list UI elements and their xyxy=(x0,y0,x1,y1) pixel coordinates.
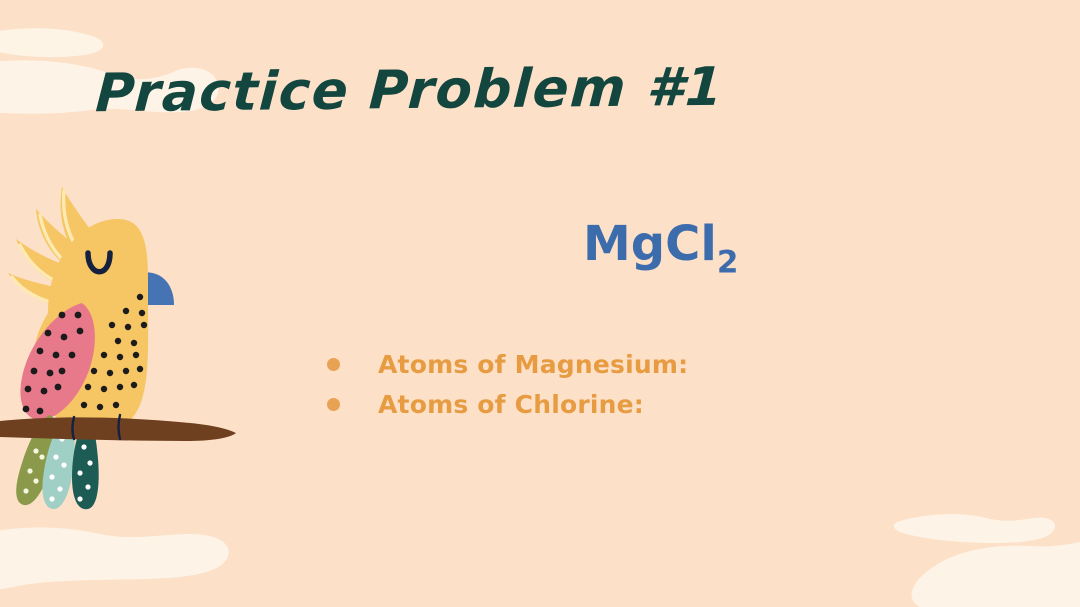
answer-list: Atoms of Magnesium: Atoms of Chlorine: xyxy=(327,344,887,424)
cloud-bottom-right-large xyxy=(912,538,1080,607)
bullet-dot-icon xyxy=(327,358,340,371)
list-item: Atoms of Chlorine: xyxy=(327,384,887,424)
slide-canvas: Practice Problem #1 MgCl2 Atoms of Magne… xyxy=(0,0,1080,607)
chemical-formula: MgCl2 xyxy=(583,216,738,280)
cloud-top-left-wisp xyxy=(0,28,103,57)
list-item-label: Atoms of Chlorine: xyxy=(378,390,644,419)
formula-base: MgCl xyxy=(583,216,717,272)
cloud-bottom-left xyxy=(0,528,229,591)
bullet-dot-icon xyxy=(327,398,340,411)
list-item: Atoms of Magnesium: xyxy=(327,344,887,384)
formula-subscript: 2 xyxy=(717,244,739,280)
page-title: Practice Problem #1 xyxy=(94,57,726,125)
cloud-bottom-right-small xyxy=(894,514,1055,543)
cloud-bottom-right-tail xyxy=(1029,544,1080,596)
cockatiel-bird-illustration xyxy=(0,165,250,510)
list-item-label: Atoms of Magnesium: xyxy=(378,350,688,379)
